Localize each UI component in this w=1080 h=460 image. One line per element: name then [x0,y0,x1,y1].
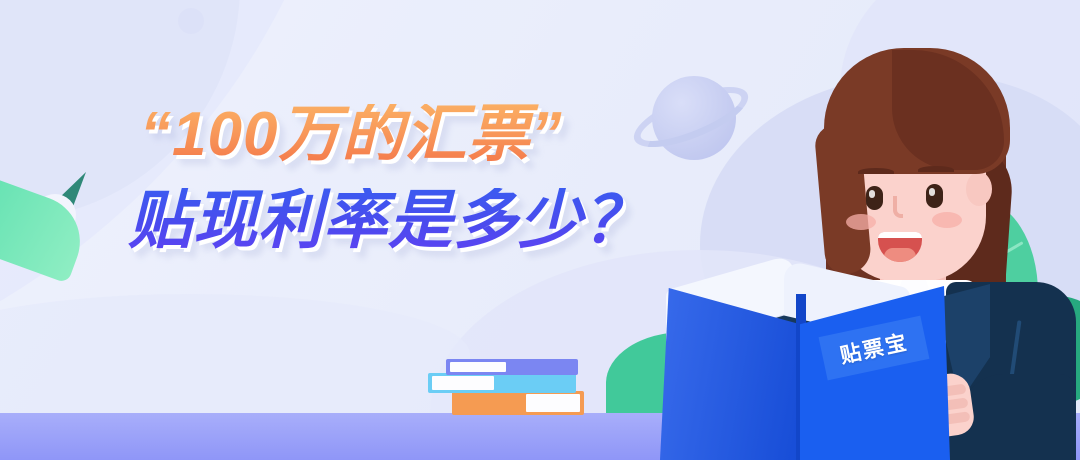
tongue [884,248,916,262]
background-wave-left [0,294,470,414]
eye-highlight [869,190,875,198]
cheek-blush-left [846,214,876,230]
ear [966,172,992,206]
nose [893,196,903,218]
teeth [878,232,922,238]
book-stack-middle [428,373,576,393]
arm-right [960,374,1076,460]
book-label [432,376,494,390]
eye-right [926,184,943,208]
promo-banner: 贴票宝 “100万的汇票” 贴现利率是多少？ [0,0,1080,460]
eye-left [866,186,883,210]
headline-line-2: 贴现利率是多少？ [128,188,748,252]
book-label [450,362,506,372]
dot-decoration [178,8,204,34]
mouth [878,232,922,262]
headline-line-1: “100万的汇票” [140,104,748,166]
leaf-tip [40,172,86,212]
leaf-blade [0,170,93,283]
leaf-icon [0,168,106,318]
eyebrow-left [858,168,894,176]
book-label [526,394,580,412]
headline-block: “100万的汇票” 贴现利率是多少？ [128,104,748,252]
cheek-blush-right [932,212,962,228]
book-stack-bottom [452,391,584,415]
eyebrow-right [918,166,954,174]
leaf-highlight [34,194,76,236]
open-book: 贴票宝 [660,268,940,460]
book-stack-icon [424,355,586,417]
eye-highlight [929,188,935,196]
book-stack-top [446,359,578,375]
